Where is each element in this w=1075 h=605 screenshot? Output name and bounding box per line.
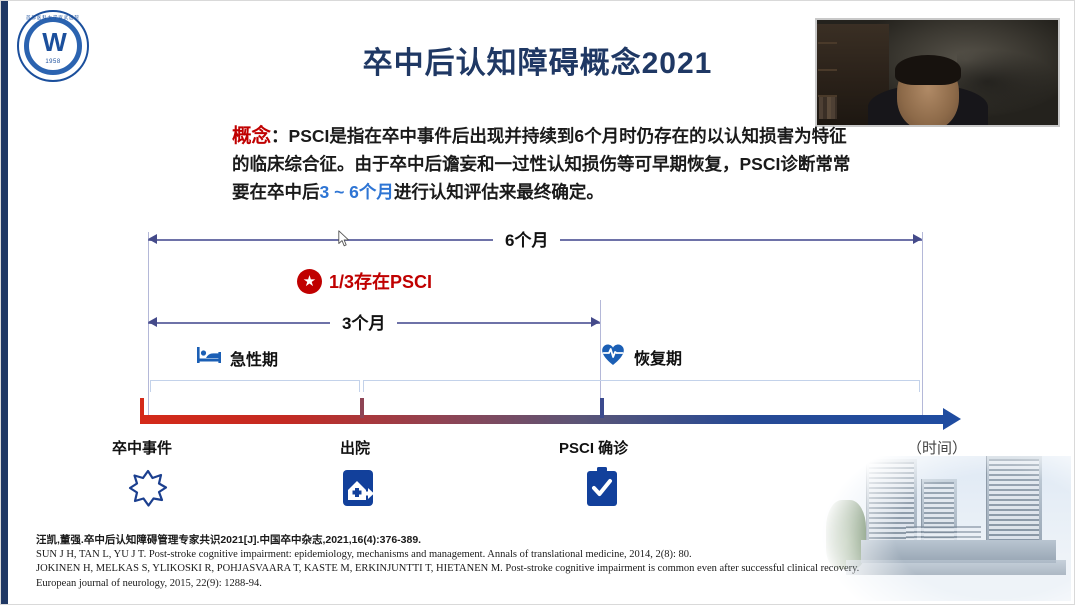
reference-item: JOKINEN H, MELKAS S, YLIKOSKI R, POHJASV… <box>36 562 866 591</box>
burst-icon <box>128 468 168 513</box>
reference-item: SUN J H, TAN L, YU J T. Post-stroke cogn… <box>36 548 866 563</box>
mouse-cursor <box>338 230 350 248</box>
psci-proportion-label: 1/3存在PSCI <box>329 268 432 294</box>
presentation-slide: 首都医科大学宣武医院 W 1958 卒中后认知障碍概念2021 概念：PSCI是… <box>0 0 1075 605</box>
phase-acute-label: 急性期 <box>230 346 278 370</box>
point-label-discharge: 出院 <box>340 437 370 458</box>
point-label-stroke-event: 卒中事件 <box>112 437 172 458</box>
psci-proportion-note: ★ 1/3存在PSCI <box>297 268 432 294</box>
three-month-arrow-head-left <box>148 317 157 327</box>
references-block: 汪凯,董强.卒中后认知障碍管理专家共识2021[J].中国卒中杂志,2021,1… <box>36 533 866 591</box>
tick-psci-diagnosis <box>600 398 604 418</box>
hospital-discharge-icon <box>340 468 380 513</box>
reference-item: 汪凯,董强.卒中后认知障碍管理专家共识2021[J].中国卒中杂志,2021,1… <box>36 533 866 548</box>
heart-pulse-icon <box>600 341 626 372</box>
timeline-arrowhead-icon <box>943 408 961 430</box>
three-month-arrow-head-right <box>591 317 600 327</box>
three-month-label: 3个月 <box>330 309 397 334</box>
hospital-bed-icon <box>196 344 222 371</box>
bracket-acute <box>150 380 360 392</box>
six-month-arrow: 6个月 <box>148 232 922 248</box>
tick-discharge <box>360 398 364 418</box>
three-month-arrow: 3个月 <box>148 315 600 331</box>
point-label-time: （时间） <box>907 437 967 458</box>
tick-stroke-event <box>140 398 144 418</box>
phase-recovery-label: 恢复期 <box>634 345 682 369</box>
six-month-label: 6个月 <box>493 226 560 251</box>
six-month-arrow-head-left <box>148 234 157 244</box>
guide-line-6month <box>922 232 923 416</box>
clipboard-check-icon <box>584 466 620 513</box>
six-month-arrow-head-right <box>913 234 922 244</box>
star-icon: ★ <box>297 269 322 294</box>
bracket-recovery <box>363 380 920 392</box>
phase-acute: 急性期 <box>196 344 278 371</box>
timeline-bar <box>140 415 945 424</box>
phase-recovery: 恢复期 <box>600 341 682 372</box>
point-label-psci-confirm: PSCI 确诊 <box>559 437 628 458</box>
hospital-building-photo <box>821 456 1071 601</box>
